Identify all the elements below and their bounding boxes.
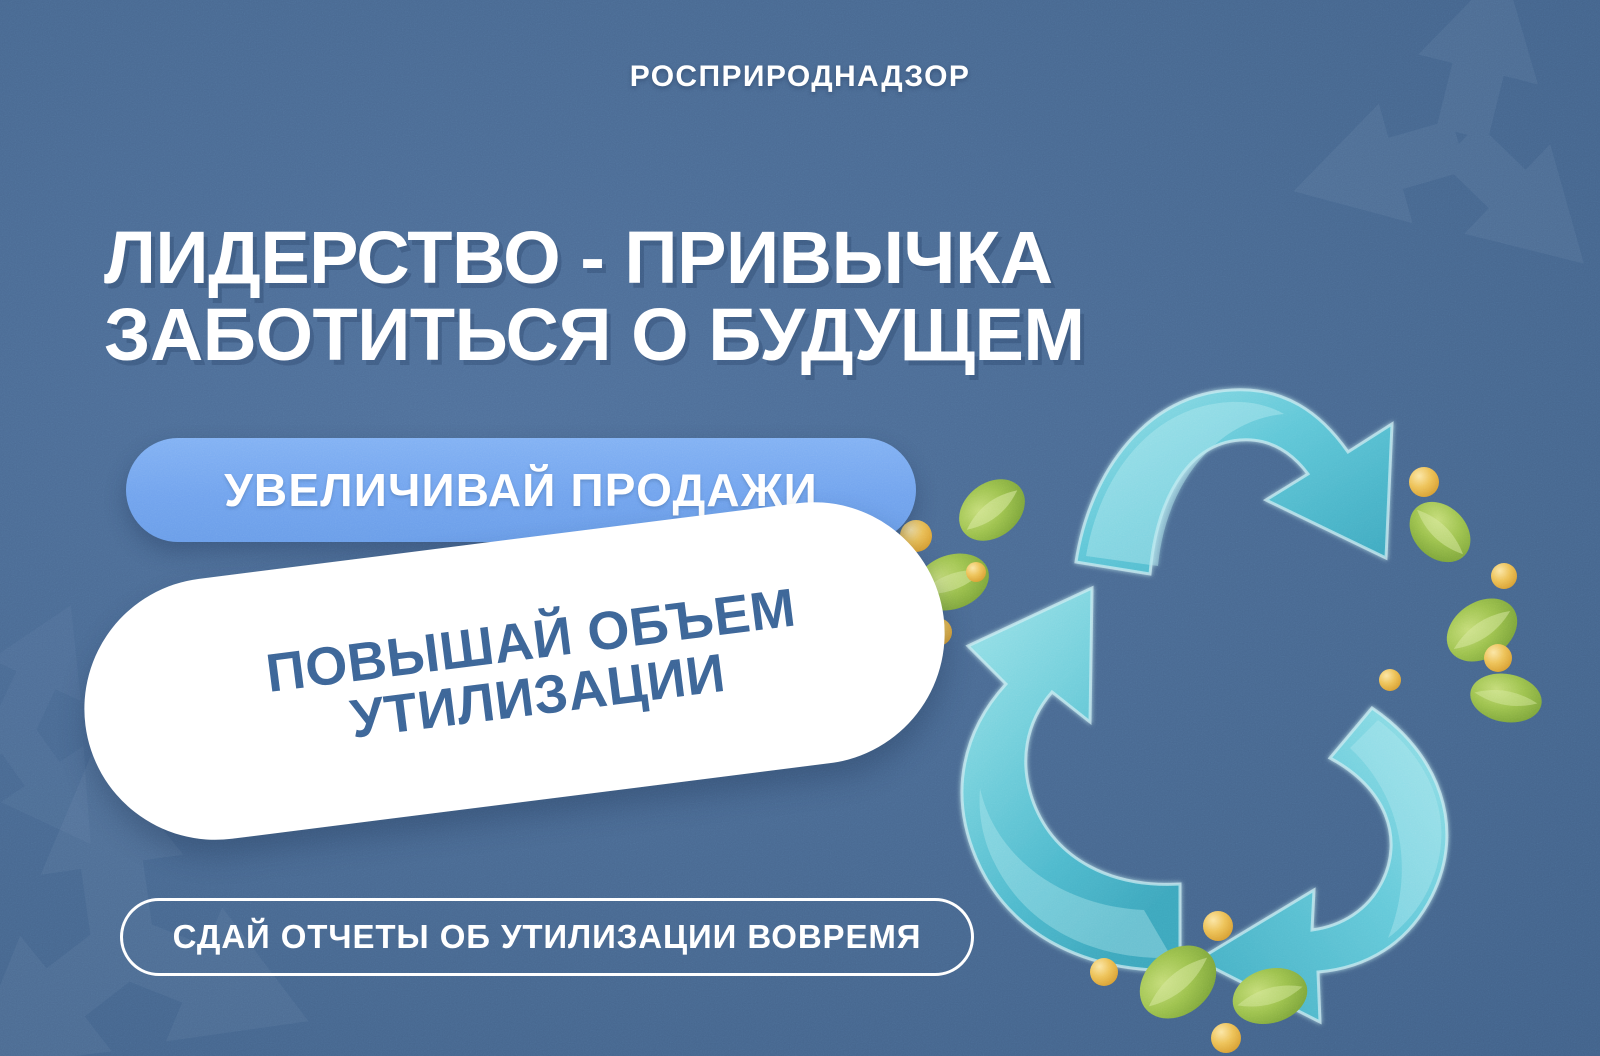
berry-dot-icon-group-right: [1379, 467, 1517, 691]
page-title: ЛИДЕРСТВО - ПРИВЫЧКА ЗАБОТИТЬСЯ О БУДУЩЕ…: [104, 222, 1084, 370]
recycle-arrow-top: [1076, 390, 1392, 574]
headline-line-1: ЛИДЕРСТВО - ПРИВЫЧКА: [104, 222, 1084, 293]
recycle-hero-graphic: [880, 350, 1540, 1040]
poster-canvas: РОСПРИРОДНАДЗОР ЛИДЕРСТВО - ПРИВЫЧКА ЗАБ…: [0, 0, 1600, 1056]
headline-line-2: ЗАБОТИТЬСЯ О БУДУЩЕМ: [104, 299, 1084, 370]
recycle-arrow-left: [962, 588, 1180, 970]
submit-reports-pill[interactable]: СДАЙ ОТЧЕТЫ ОБ УТИЛИЗАЦИИ ВОВРЕМЯ: [120, 898, 974, 976]
increase-sales-label: УВЕЛИЧИВАЙ ПРОДАЖИ: [224, 463, 818, 517]
recycle-arrow-right: [1198, 708, 1447, 1022]
increase-recycling-volume-text: ПОВЫШАЙ ОБЪЕМ УТИЛИЗАЦИИ: [223, 579, 806, 762]
increase-recycling-volume-pill[interactable]: ПОВЫШАЙ ОБЪЕМ УТИЛИЗАЦИИ: [69, 487, 960, 855]
leaf-icon-group-right: [1397, 490, 1545, 728]
submit-reports-label: СДАЙ ОТЧЕТЫ ОБ УТИЛИЗАЦИИ ВОВРЕМЯ: [173, 918, 922, 956]
brand-name: РОСПРИРОДНАДЗОР: [0, 60, 1600, 94]
